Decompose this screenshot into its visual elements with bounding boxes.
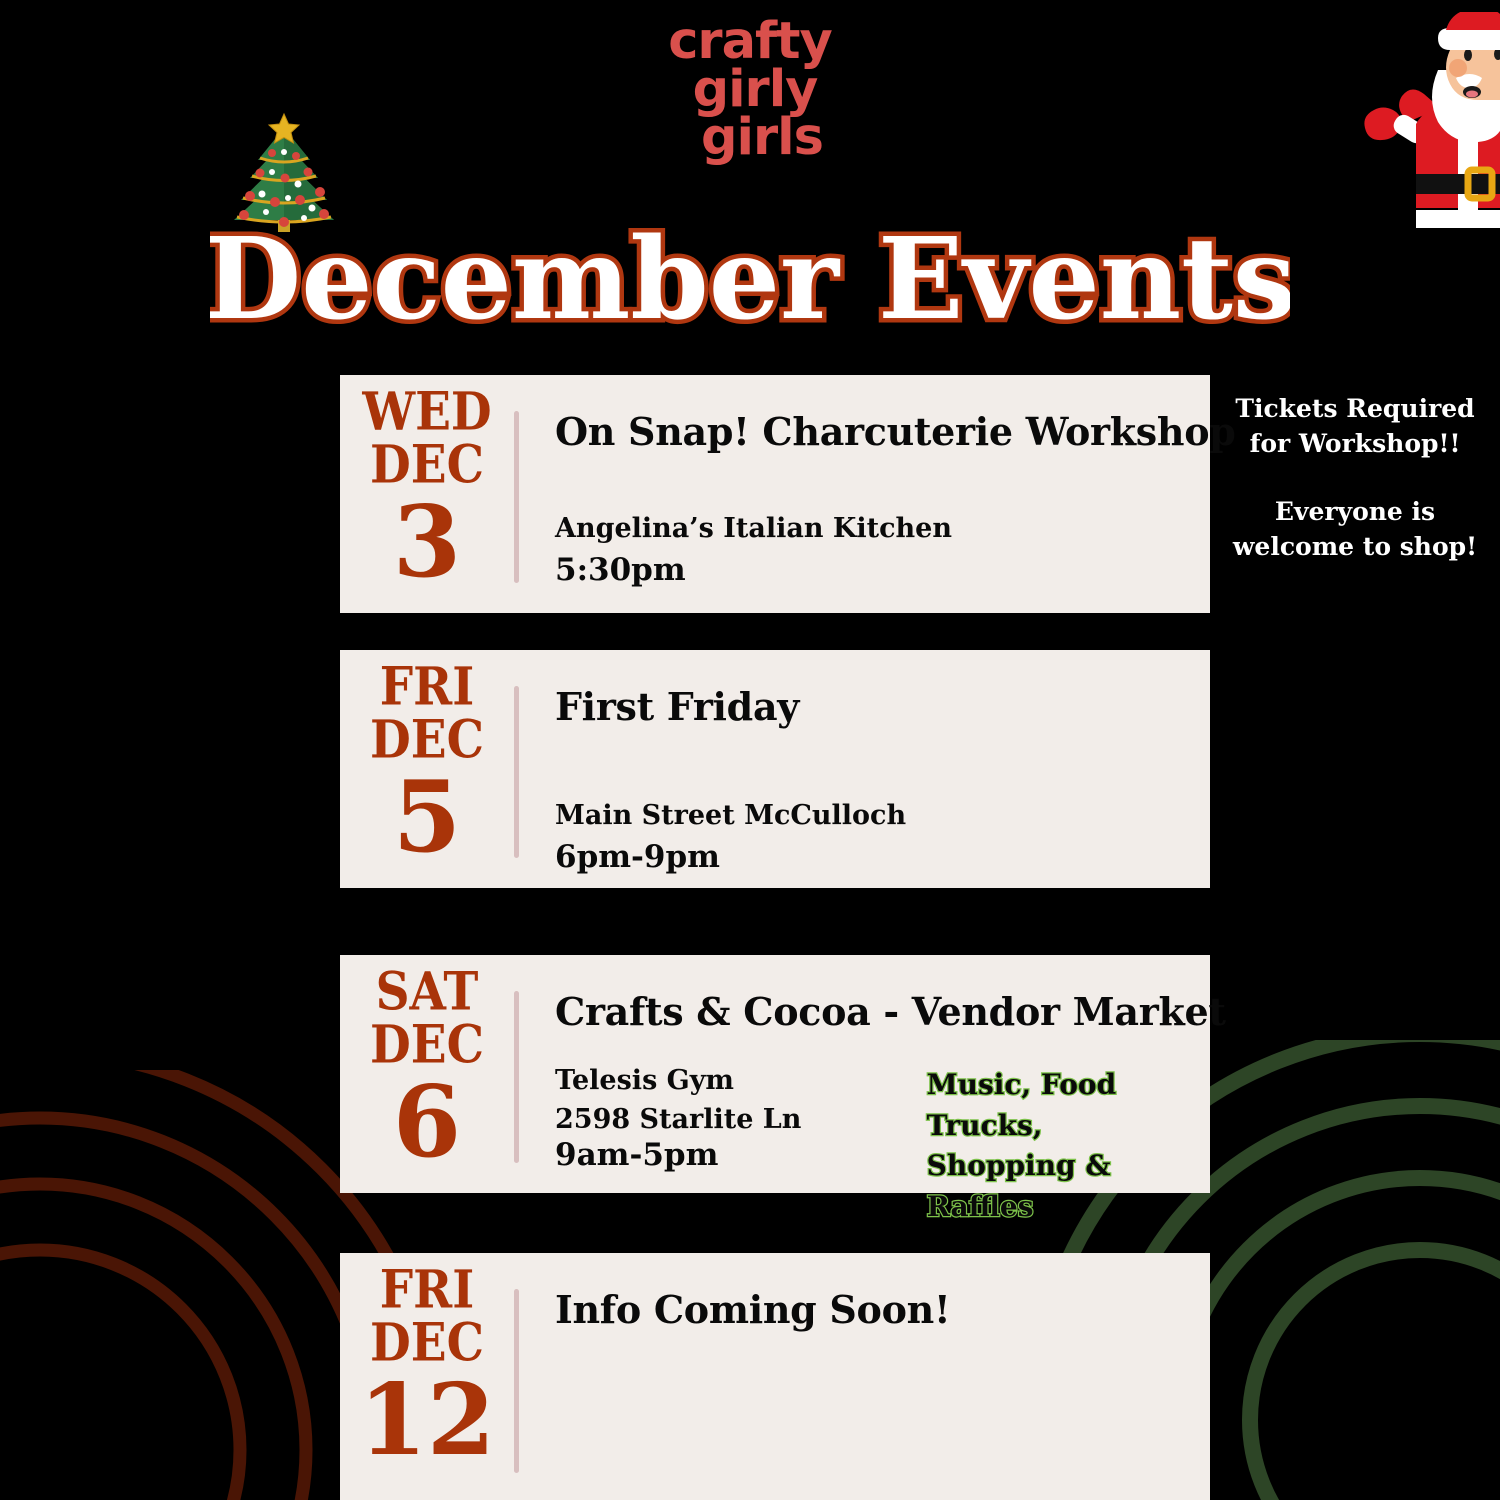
page-title-text: December Events: [210, 222, 1290, 345]
event-details: Crafts & Cocoa - Vendor Market Telesis G…: [519, 955, 1226, 1193]
side-note-spacer: [1222, 461, 1488, 495]
side-note-line-3: Everyone is: [1222, 495, 1488, 530]
event-card[interactable]: WED DEC 3 On Snap! Charcuterie Workshop …: [340, 375, 1210, 613]
december-events-poster: crafty girly girls: [0, 0, 1500, 1500]
event-venue: Angelina’s Italian Kitchen: [555, 513, 952, 544]
event-date-block: FRI DEC 5: [340, 650, 514, 888]
event-month: DEC: [340, 442, 514, 488]
event-address: 2598 Starlite Ln: [555, 1104, 801, 1135]
event-venue: Telesis Gym: [555, 1065, 801, 1096]
event-venue: Main Street McCulloch: [555, 800, 906, 831]
brand-logo-line-2: girly: [0, 66, 1500, 114]
event-details: On Snap! Charcuterie Workshop Angelina’s…: [519, 375, 1236, 613]
side-note: Tickets Required for Workshop!! Everyone…: [1222, 392, 1488, 564]
event-details: First Friday Main Street McCulloch 6pm-9…: [519, 650, 1210, 888]
event-day-number: 3: [340, 498, 514, 588]
event-date-block: FRI DEC 12: [340, 1253, 514, 1500]
event-day-of-week: FRI: [340, 664, 514, 710]
side-note-line-2: for Workshop!!: [1222, 427, 1488, 462]
event-time: 5:30pm: [555, 552, 952, 588]
event-title: On Snap! Charcuterie Workshop: [555, 409, 1236, 454]
event-day-number: 6: [340, 1078, 514, 1168]
event-day-number: 12: [340, 1376, 514, 1466]
event-day-of-week: SAT: [340, 969, 514, 1015]
santa-claus-icon: [1346, 12, 1500, 237]
event-day-of-week: FRI: [340, 1267, 514, 1313]
side-note-line-4: welcome to shop!: [1222, 530, 1488, 565]
event-date-block: WED DEC 3: [340, 375, 514, 613]
event-month: DEC: [340, 1320, 514, 1366]
brand-logo-line-3: girls: [0, 114, 1500, 162]
event-card[interactable]: FRI DEC 5 First Friday Main Street McCul…: [340, 650, 1210, 888]
event-card[interactable]: SAT DEC 6 Crafts & Cocoa - Vendor Market…: [340, 955, 1210, 1193]
event-meta: Main Street McCulloch 6pm-9pm: [555, 800, 906, 875]
side-note-line-1: Tickets Required: [1222, 392, 1488, 427]
event-title: Info Coming Soon!: [555, 1287, 1210, 1332]
event-time: 6pm-9pm: [555, 839, 906, 875]
event-date-block: SAT DEC 6: [340, 955, 514, 1193]
event-meta: Angelina’s Italian Kitchen 5:30pm: [555, 513, 952, 588]
brand-logo: crafty girly girls: [0, 18, 1500, 162]
brand-logo-line-1: crafty: [0, 18, 1500, 66]
event-title: First Friday: [555, 684, 1210, 729]
christmas-tree-icon: [228, 112, 340, 237]
event-day-of-week: WED: [340, 389, 514, 435]
event-day-number: 5: [340, 773, 514, 863]
event-details: Info Coming Soon!: [519, 1253, 1210, 1500]
event-meta: Telesis Gym 2598 Starlite Ln 9am-5pm: [555, 1065, 801, 1173]
event-month: DEC: [340, 717, 514, 763]
event-time: 9am-5pm: [555, 1137, 801, 1173]
event-highlight-line-1: Music, Food Trucks,: [927, 1068, 1117, 1142]
event-highlight-line-2: Shopping & Raffles: [927, 1149, 1111, 1223]
event-card[interactable]: FRI DEC 12 Info Coming Soon!: [340, 1253, 1210, 1500]
event-highlight-note: Music, Food Trucks, Shopping & Raffles: [927, 1065, 1212, 1227]
event-title: Crafts & Cocoa - Vendor Market: [555, 989, 1226, 1034]
page-title: December Events: [0, 222, 1500, 352]
event-month: DEC: [340, 1022, 514, 1068]
